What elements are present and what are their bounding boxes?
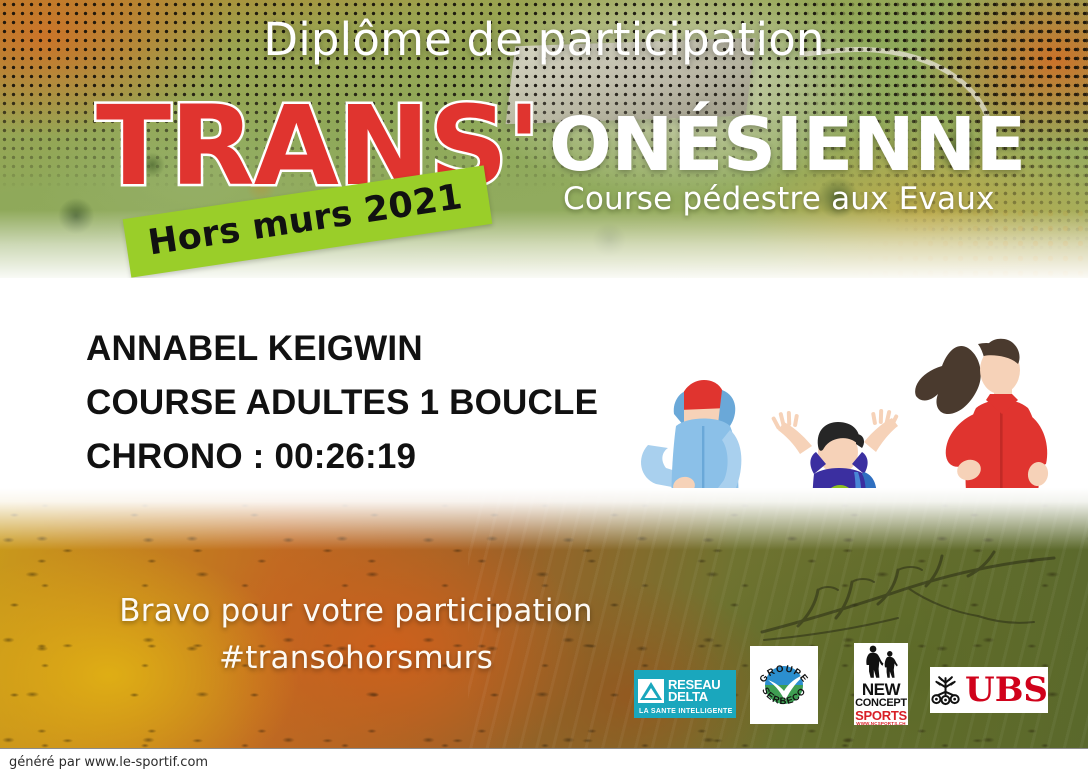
poster: Diplôme de participation TRANS' ONÉSIENN… bbox=[0, 0, 1088, 748]
hashtag-line: #transohorsmurs bbox=[86, 635, 626, 682]
ncs-url: WWW.NCSPORTS.CH bbox=[855, 722, 907, 727]
generator-footer: généré par www.le-sportif.com bbox=[0, 748, 1088, 777]
bravo-line: Bravo pour votre participation bbox=[86, 588, 626, 635]
generator-text: généré par www.le-sportif.com bbox=[9, 755, 208, 770]
two-runners-icon bbox=[857, 645, 905, 679]
serbeco-mark-icon: GROUPE SERBECO bbox=[750, 646, 818, 724]
sponsor-logo-groupe-serbeco[interactable]: GROUPE SERBECO bbox=[750, 646, 818, 724]
participation-certificate: Diplôme de participation TRANS' ONÉSIENN… bbox=[0, 0, 1088, 777]
event-logo: TRANS' ONÉSIENNE Course pédestre aux Eva… bbox=[0, 95, 1088, 275]
delta-line2: DELTA bbox=[668, 691, 720, 703]
ubs-wordmark: UBS bbox=[965, 673, 1048, 707]
ubs-three-keys-icon bbox=[930, 673, 961, 707]
sponsor-logo-reseau-delta[interactable]: RESEAU DELTA LA SANTE INTELLIGENTE bbox=[634, 670, 736, 718]
delta-triangle-icon bbox=[638, 679, 664, 703]
sponsor-logos: RESEAU DELTA LA SANTE INTELLIGENTE bbox=[626, 640, 1066, 730]
sponsor-logo-ubs[interactable]: UBS bbox=[930, 667, 1048, 713]
event-name-onesienne: ONÉSIENNE bbox=[549, 108, 1026, 182]
delta-tagline: LA SANTE INTELLIGENTE bbox=[634, 708, 736, 718]
footer-photo-fade bbox=[0, 488, 1088, 550]
event-subtitle: Course pédestre aux Evaux bbox=[563, 181, 995, 217]
page-title: Diplôme de participation bbox=[0, 13, 1088, 66]
sponsor-logo-new-concept-sports[interactable]: NEW CONCEPT SPORTS WWW.NCSPORTS.CH bbox=[854, 643, 908, 725]
congratulations-message: Bravo pour votre participation #transoho… bbox=[86, 588, 626, 682]
ncs-line1: NEW bbox=[855, 681, 907, 698]
